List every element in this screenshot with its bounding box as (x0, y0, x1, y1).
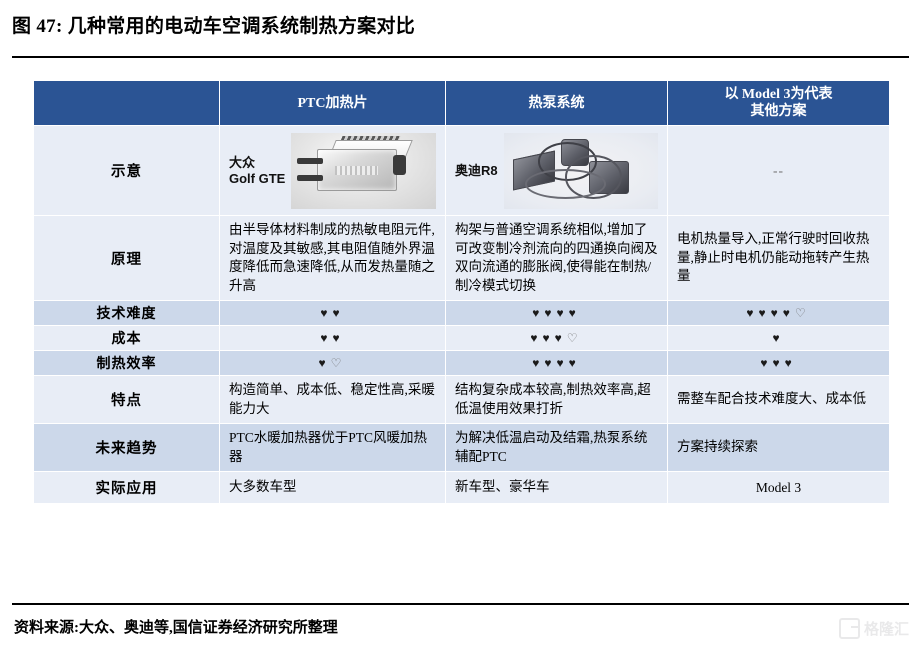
cell-principle-heat-pump: 构架与普通空调系统相似,增加了可改变制冷剂流向的四通换向阀及双向流通的膨胀阀,使… (446, 216, 668, 301)
cell-application-heat-pump: 新车型、豪华车 (446, 472, 668, 504)
cell-principle-ptc: 由半导体材料制成的热敏电阻元件,对温度及其敏感,其电阻值随外界温度降低而急速降低… (220, 216, 446, 301)
cell-cost-heat-pump: ♥♥♥♡ (446, 326, 668, 351)
watermark-logo-icon (839, 618, 860, 639)
cell-features-ptc: 构造简单、成本低、稳定性高,采暖能力大 (220, 376, 446, 424)
cell-difficulty-heat-pump: ♥♥♥♥ (446, 301, 668, 326)
table-row-efficiency: 制热效率 ♥♡ ♥♥♥♥ ♥♥♥ (34, 351, 890, 376)
title-divider (12, 56, 909, 58)
table-row-illustration: 示意 大众 Golf GTE (34, 126, 890, 216)
header-row: PTC加热片 热泵系统 以 Model 3为代表 其他方案 (34, 81, 890, 126)
cell-cost-model3: ♥ (668, 326, 890, 351)
cell-illustration-heat-pump: 奥迪R8 (446, 126, 668, 216)
rating-hearts: ♥♥ (320, 306, 344, 320)
row-label-trend: 未来趋势 (34, 424, 220, 472)
table-body: 示意 大众 Golf GTE (34, 126, 890, 504)
cell-illustration-ptc: 大众 Golf GTE (220, 126, 446, 216)
rating-hearts: ♥♥♥ (760, 356, 796, 370)
cell-illustration-model3: -- (668, 126, 890, 216)
row-label-efficiency: 制热效率 (34, 351, 220, 376)
table-row-application: 实际应用 大多数车型 新车型、豪华车 Model 3 (34, 472, 890, 504)
figure-page: 图 47: 几种常用的电动车空调系统制热方案对比 PTC加热片 热泵系统 以 M… (0, 0, 921, 648)
figure-title-text: 几种常用的电动车空调系统制热方案对比 (68, 16, 415, 37)
header-ptc: PTC加热片 (220, 81, 446, 126)
cell-difficulty-model3: ♥♥♥♥♡ (668, 301, 890, 326)
table-header: PTC加热片 热泵系统 以 Model 3为代表 其他方案 (34, 81, 890, 126)
table-row-cost: 成本 ♥♥ ♥♥♥♡ ♥ (34, 326, 890, 351)
cell-features-heat-pump: 结构复杂成本较高,制热效率高,超低温使用效果打折 (446, 376, 668, 424)
cell-efficiency-model3: ♥♥♥ (668, 351, 890, 376)
cell-application-ptc: 大多数车型 (220, 472, 446, 504)
table-row-difficulty: 技术难度 ♥♥ ♥♥♥♥ ♥♥♥♥♡ (34, 301, 890, 326)
table-row-principle: 原理 由半导体材料制成的热敏电阻元件,对温度及其敏感,其电阻值随外界温度降低而急… (34, 216, 890, 301)
table-row-features: 特点 构造简单、成本低、稳定性高,采暖能力大 结构复杂成本较高,制热效率高,超低… (34, 376, 890, 424)
source-note: 资料来源:大众、奥迪等,国信证券经济研究所整理 (14, 617, 338, 639)
rating-hearts: ♥♥♥♥♡ (746, 306, 810, 320)
row-label-principle: 原理 (34, 216, 220, 301)
row-label-illustration: 示意 (34, 126, 220, 216)
cell-efficiency-heat-pump: ♥♥♥♥ (446, 351, 668, 376)
rating-hearts: ♥ (772, 331, 784, 345)
caption-audi-r8: 奥迪R8 (455, 163, 498, 179)
cell-features-model3: 需整车配合技术难度大、成本低 (668, 376, 890, 424)
header-heat-pump: 热泵系统 (446, 81, 668, 126)
cell-trend-heat-pump: 为解决低温启动及结霜,热泵系统辅配PTC (446, 424, 668, 472)
rating-hearts: ♥♡ (319, 356, 347, 370)
ptc-heater-photo (291, 133, 436, 209)
watermark: 格隆汇 (839, 618, 909, 639)
comparison-table-wrap: PTC加热片 热泵系统 以 Model 3为代表 其他方案 示意 大众 Golf… (33, 80, 889, 504)
cell-efficiency-ptc: ♥♡ (220, 351, 446, 376)
rating-hearts: ♥♥♥♥ (532, 356, 581, 370)
figure-header: 图 47: 几种常用的电动车空调系统制热方案对比 (12, 14, 909, 40)
comparison-table: PTC加热片 热泵系统 以 Model 3为代表 其他方案 示意 大众 Golf… (33, 80, 890, 504)
watermark-text: 格隆汇 (864, 618, 909, 639)
cell-trend-model3: 方案持续探索 (668, 424, 890, 472)
page-title: 图 47: 几种常用的电动车空调系统制热方案对比 (12, 14, 909, 40)
cell-cost-ptc: ♥♥ (220, 326, 446, 351)
cell-application-model3: Model 3 (668, 472, 890, 504)
footer-divider (12, 603, 909, 605)
rating-hearts: ♥♥♥♡ (530, 331, 582, 345)
header-model3: 以 Model 3为代表 其他方案 (668, 81, 890, 126)
rating-hearts: ♥♥ (320, 331, 344, 345)
heat-pump-assembly-photo (504, 133, 658, 209)
cell-difficulty-ptc: ♥♥ (220, 301, 446, 326)
cell-trend-ptc: PTC水暖加热器优于PTC风暖加热器 (220, 424, 446, 472)
table-row-trend: 未来趋势 PTC水暖加热器优于PTC风暖加热器 为解决低温启动及结霜,热泵系统辅… (34, 424, 890, 472)
row-label-difficulty: 技术难度 (34, 301, 220, 326)
row-label-application: 实际应用 (34, 472, 220, 504)
caption-golf-gte: 大众 Golf GTE (229, 155, 285, 187)
figure-number: 图 47: (12, 16, 63, 37)
header-corner (34, 81, 220, 126)
row-label-cost: 成本 (34, 326, 220, 351)
row-label-features: 特点 (34, 376, 220, 424)
rating-hearts: ♥♥♥♥ (532, 306, 581, 320)
cell-principle-model3: 电机热量导入,正常行驶时回收热量,静止时电机仍能动拖转产生热量 (668, 216, 890, 301)
